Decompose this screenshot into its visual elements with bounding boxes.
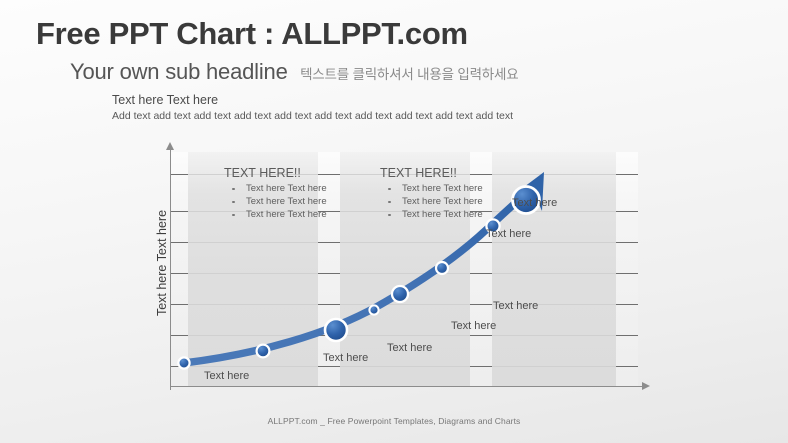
axis-tick	[470, 366, 492, 367]
axis-tick	[170, 211, 188, 212]
y-axis-arrow-icon	[166, 142, 174, 150]
callout-bullet-list: Text here Text here Text here Text here …	[380, 182, 483, 221]
page-title: Free PPT Chart : ALLPPT.com	[36, 16, 468, 52]
list-item: Text here Text here	[380, 195, 483, 208]
axis-tick	[616, 366, 638, 367]
band-gap-1	[170, 152, 188, 386]
axis-tick	[170, 242, 188, 243]
point-label-1: Text here	[204, 370, 249, 382]
axis-tick	[318, 304, 340, 305]
axis-tick	[170, 174, 188, 175]
callout-heading: TEXT HERE!!	[224, 166, 327, 180]
body-text: Add text add text add text add text add …	[112, 110, 513, 122]
axis-tick	[616, 242, 638, 243]
point-label-6: Text here	[486, 228, 531, 240]
x-axis-line	[170, 386, 644, 387]
callout-block-1: TEXT HERE!! Text here Text here Text her…	[224, 166, 327, 221]
list-item: Text here Text here	[224, 182, 327, 195]
callout-bullet-list: Text here Text here Text here Text here …	[224, 182, 327, 221]
axis-tick	[616, 174, 638, 175]
list-item: Text here Text here	[224, 208, 327, 221]
axis-tick	[318, 366, 340, 367]
gridline	[170, 242, 638, 243]
axis-tick	[170, 366, 188, 367]
gridline	[170, 335, 638, 336]
axis-tick	[170, 273, 188, 274]
sub-headline-korean: 텍스트를 클릭하셔서 내용을 입력하세요	[300, 63, 518, 83]
point-label-3: Text here	[387, 342, 432, 354]
list-item: Text here Text here	[380, 182, 483, 195]
slide: Free PPT Chart : ALLPPT.com Your own sub…	[0, 0, 788, 443]
x-axis-arrow-icon	[642, 382, 650, 390]
list-item: Text here Text here	[380, 208, 483, 221]
point-label-7: Text here	[512, 197, 557, 209]
point-label-4: Text here	[451, 320, 496, 332]
axis-tick	[616, 335, 638, 336]
axis-tick	[470, 273, 492, 274]
list-item: Text here Text here	[224, 195, 327, 208]
footer-text: ALLPPT.com _ Free Powerpoint Templates, …	[0, 416, 788, 426]
point-label-5: Text here	[493, 300, 538, 312]
axis-tick	[616, 211, 638, 212]
axis-tick	[318, 273, 340, 274]
growth-curve-chart: Text here Text here	[148, 146, 660, 396]
band-gap-4	[616, 152, 638, 386]
axis-tick	[318, 242, 340, 243]
callout-block-2: TEXT HERE!! Text here Text here Text her…	[380, 166, 483, 221]
axis-tick	[170, 335, 188, 336]
body-heading: Text here Text here	[112, 93, 218, 107]
axis-tick	[170, 304, 188, 305]
axis-tick	[616, 304, 638, 305]
axis-tick	[470, 242, 492, 243]
sub-headline: Your own sub headline	[70, 59, 288, 85]
axis-tick	[470, 335, 492, 336]
axis-tick	[616, 273, 638, 274]
axis-tick	[318, 335, 340, 336]
sub-headline-row: Your own sub headline 텍스트를 클릭하셔서 내용을 입력하…	[70, 59, 518, 85]
gridline	[170, 304, 638, 305]
gridline	[170, 366, 638, 367]
point-label-2: Text here	[323, 352, 368, 364]
callout-heading: TEXT HERE!!	[380, 166, 483, 180]
y-axis-label: Text here Text here	[155, 153, 169, 373]
gridline	[170, 273, 638, 274]
axis-tick	[470, 304, 492, 305]
y-axis-line	[170, 146, 171, 390]
